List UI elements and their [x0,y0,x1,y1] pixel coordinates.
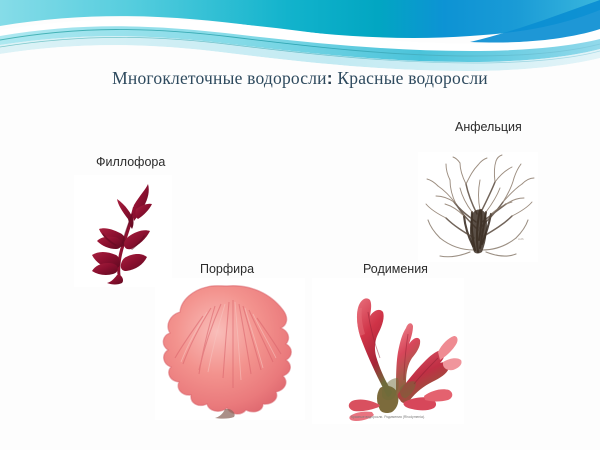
figure-caption-porphyra: Порфира [200,262,254,276]
figure-image-phyllophora [74,175,172,287]
figure-caption-rhodymenia: Родимения [363,262,428,276]
svg-text:AdS: AdS [518,237,524,241]
title-main: Многоклеточные водоросли [112,68,327,88]
presentation-slide: Многоклеточные водоросли: Красные водоро… [0,0,600,450]
page-title: Многоклеточные водоросли: Красные водоро… [0,68,600,89]
figure-image-ahnfeltia: AdS [418,152,538,262]
figure-image-porphyra [155,278,305,420]
decorative-wave-banner [0,0,600,72]
figure-caption-ahnfeltia: Анфельция [455,120,522,134]
title-sub: Красные водоросли [333,68,488,88]
svg-text:Красные водоросли. Родимения (: Красные водоросли. Родимения (Rhodymenia… [351,415,425,419]
figure-caption-phyllophora: Филлофора [96,155,165,169]
figure-image-rhodymenia: Красные водоросли. Родимения (Rhodymenia… [312,278,464,424]
